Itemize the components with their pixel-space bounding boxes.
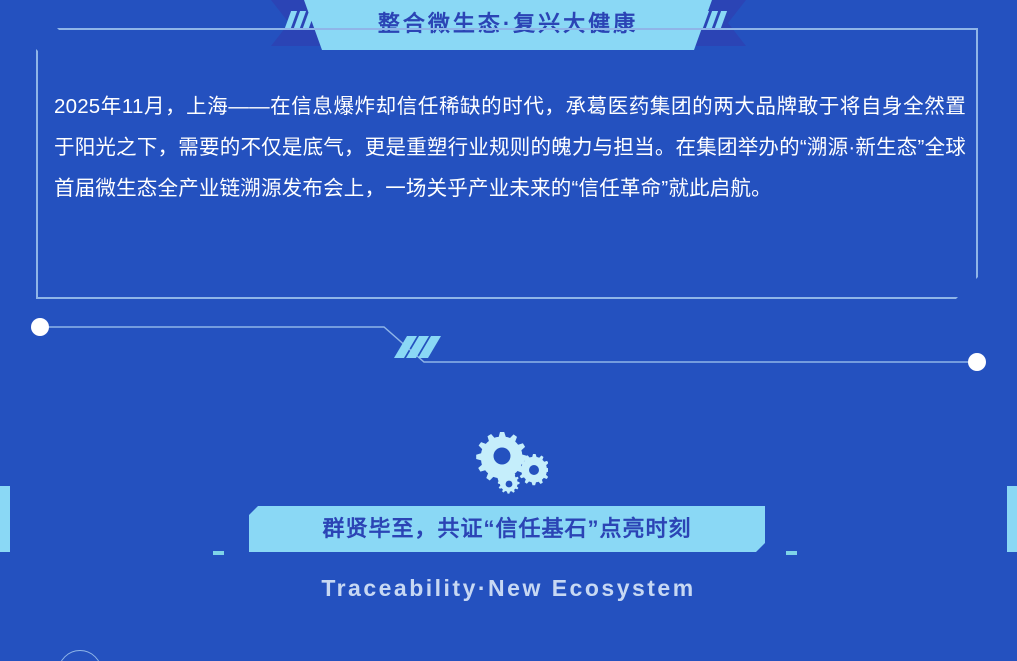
- gears-icon: [472, 428, 548, 496]
- divider-slashes-icon: [394, 336, 441, 358]
- edge-strip-left: [0, 486, 10, 552]
- tick-mark-left: [213, 551, 224, 555]
- tick-mark-right: [786, 551, 797, 555]
- divider-dot-right: [968, 353, 986, 371]
- press-release-body: 2025年11月，上海——在信息爆炸却信任稀缺的时代，承葛医药集团的两大品牌敢于…: [54, 86, 966, 209]
- edge-strip-right: [1007, 486, 1017, 552]
- divider-line: [45, 327, 975, 362]
- sub-banner-title: 群贤毕至，共证“信任基石”点亮时刻: [322, 518, 691, 541]
- ribbon-slashes-left-icon: [288, 11, 312, 28]
- sub-banner: 群贤毕至，共证“信任基石”点亮时刻: [249, 506, 765, 552]
- bottom-arc-decoration: [58, 650, 102, 661]
- section-divider: [0, 300, 1017, 395]
- english-subtitle: Traceability·New Ecosystem: [0, 575, 1017, 602]
- divider-dot-left: [31, 318, 49, 336]
